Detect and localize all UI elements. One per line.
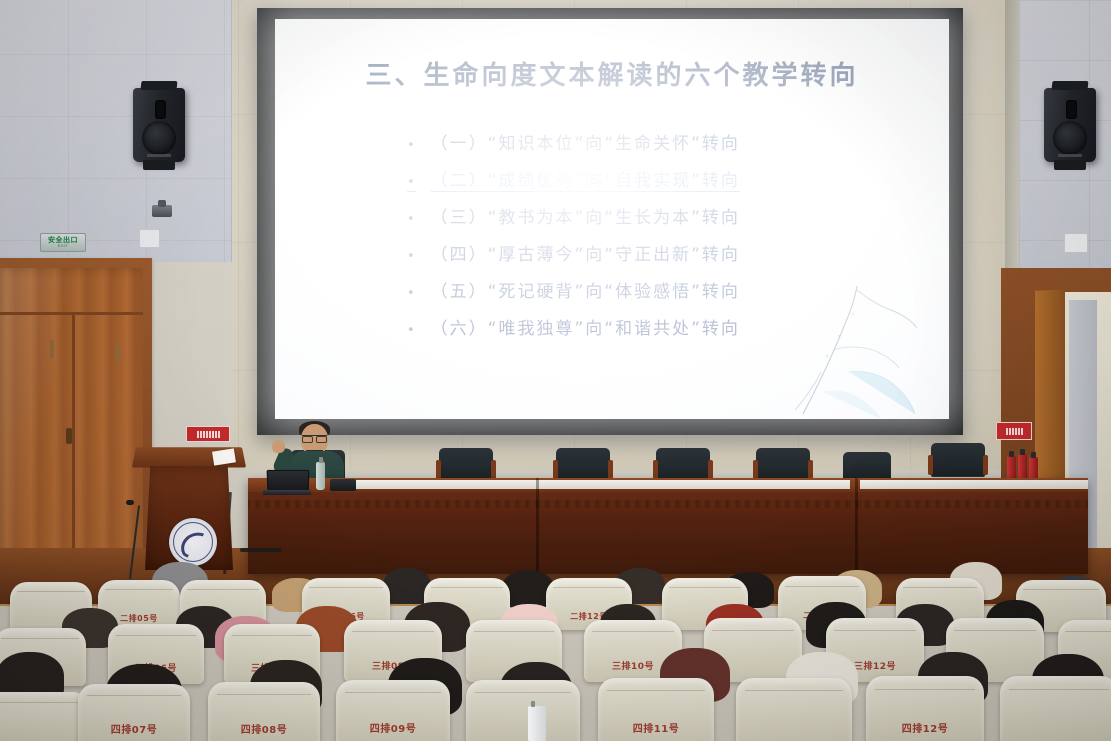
- podium-microphone-head: [126, 500, 134, 505]
- fire-equipment-sign-right: [996, 422, 1032, 440]
- chair-arm: [928, 455, 933, 475]
- slide-bullet-3: • （三）“教书为本”向“生长为本”转向: [407, 203, 909, 240]
- seat[interactable]: 四排09号: [336, 680, 450, 741]
- exit-sign: 安全出口 EXIT: [40, 233, 86, 252]
- speaker-foot: [143, 160, 175, 170]
- chair-arm: [553, 460, 558, 480]
- right-wall-trim: [1005, 0, 1019, 300]
- seat[interactable]: 四排11号: [598, 678, 714, 741]
- chair-arm: [753, 460, 758, 480]
- seat[interactable]: 四排12号: [866, 676, 984, 741]
- fire-equipment-sign-left: [186, 426, 230, 442]
- desk-phone[interactable]: [330, 479, 356, 491]
- chair-arm: [436, 460, 441, 480]
- speaker-bracket: [1052, 81, 1089, 90]
- bullet-icon: •: [407, 250, 417, 263]
- chair-arm: [653, 460, 658, 480]
- seat-crease: [1065, 631, 1111, 632]
- security-camera-icon: [152, 205, 172, 217]
- slide-bullet-1-text: （一）“知识本位”向“生命关怀”转向: [431, 129, 740, 154]
- speaker-right: [1044, 88, 1096, 162]
- speaker-cone: [1053, 121, 1087, 155]
- seat-crease: [352, 631, 434, 632]
- table-edge-highlight: [330, 480, 850, 489]
- speaker-foot: [1054, 160, 1086, 170]
- seat[interactable]: [736, 678, 852, 741]
- bullet-icon: •: [407, 139, 417, 152]
- slide-bullet-5-text: （五）“死记硬背”向“体验感悟”转向: [431, 277, 740, 302]
- audience-area: 二排05号 二排06号 二排12号 二排13号: [0, 556, 1111, 741]
- water-bottle: [316, 462, 325, 490]
- seat-crease: [669, 587, 741, 588]
- projection-screen-frame: 三、生命向度文本解读的六个教学转向 • （一）“知识本位”向“生命关怀”转向 •…: [257, 8, 963, 435]
- seat[interactable]: [466, 680, 580, 741]
- seat-crease: [105, 589, 174, 590]
- bullet-icon: •: [407, 287, 417, 300]
- lecture-hall-scene: 安全出口 EXIT: [0, 0, 1111, 741]
- seat-crease: [1, 638, 78, 639]
- laptop-base: [263, 490, 311, 495]
- seat-crease: [1023, 589, 1099, 590]
- fire-extinguisher: [1007, 456, 1016, 480]
- door-handle[interactable]: [66, 428, 72, 444]
- seat-crease: [345, 692, 441, 693]
- chair-arm: [808, 460, 813, 480]
- speaker-logo: [1058, 154, 1082, 157]
- fire-extinguisher-group: [1007, 452, 1041, 480]
- door-hinge: [50, 340, 54, 358]
- podium-body: [145, 466, 233, 570]
- bullet-icon: •: [407, 176, 417, 189]
- slide-bullet-2-text: （二）“成绩优秀”向“自我实现”转向: [431, 166, 740, 191]
- seat-crease: [785, 586, 859, 587]
- slide-bullet-3-text: （三）“教书为本”向“生长为本”转向: [431, 203, 740, 228]
- seat-crease: [607, 690, 704, 691]
- seat[interactable]: 四排07号: [78, 684, 190, 741]
- seat[interactable]: [1000, 676, 1111, 741]
- chair-arm: [983, 455, 988, 475]
- fire-extinguisher: [1029, 457, 1038, 480]
- seat-crease: [17, 591, 86, 592]
- speaker-port: [155, 100, 166, 119]
- seat-label: 四排07号: [78, 721, 190, 736]
- slide-bullet-6: • （六）“唯我独尊”向“和谐共处”转向: [407, 314, 909, 351]
- seat-crease: [745, 690, 842, 691]
- fire-extinguisher: [1018, 454, 1027, 480]
- chair-arm: [708, 460, 713, 480]
- seat-crease: [954, 630, 1036, 631]
- slide-bullet-list: • （一）“知识本位”向“生命关怀”转向 • （二）“成绩优秀”向“自我实现”转…: [407, 129, 909, 351]
- table-edge-highlight: [860, 480, 1088, 489]
- table-carving: [248, 500, 1088, 508]
- slide-bullet-5: • （五）“死记硬背”向“体验感悟”转向: [407, 277, 909, 314]
- speaker-port: [1066, 100, 1077, 119]
- slide-bullet-6-text: （六）“唯我独尊”向“和谐共处”转向: [431, 314, 740, 339]
- audience-water-bottle: [528, 706, 546, 741]
- cable-bundle: [240, 548, 282, 552]
- seat-label: 四排08号: [208, 721, 320, 736]
- chair-3: [556, 448, 610, 482]
- bullet-icon: •: [407, 213, 417, 226]
- seat-crease: [592, 631, 674, 632]
- presenter-hand: [272, 440, 285, 453]
- slide-bullet-2: • （二）“成绩优秀”向“自我实现”转向: [407, 166, 909, 203]
- left-wall-panel: [0, 0, 232, 262]
- seat-crease: [431, 587, 503, 588]
- left-double-door[interactable]: [0, 268, 143, 560]
- seat-crease: [1009, 689, 1108, 690]
- slide-bullet-4-text: （四）“厚古薄今”向“守正出新”转向: [431, 240, 740, 265]
- seat-crease: [217, 694, 311, 695]
- wall-junction-box: [139, 229, 160, 248]
- seat-crease: [187, 589, 259, 590]
- door-hinge: [116, 344, 120, 362]
- seat-crease: [712, 630, 794, 631]
- presenter-laptop[interactable]: [263, 470, 309, 496]
- seat-crease: [475, 692, 571, 693]
- podium: [139, 446, 239, 570]
- seat-crease: [232, 635, 313, 636]
- seat-label: 四排12号: [866, 720, 984, 735]
- speaker-cone: [142, 121, 176, 155]
- seat-crease: [903, 587, 977, 588]
- slide-title: 三、生命向度文本解读的六个教学转向: [275, 55, 949, 92]
- seat-crease: [474, 631, 555, 632]
- chair-5: [756, 448, 810, 482]
- chair-arm: [491, 460, 496, 480]
- chair-2: [439, 448, 493, 482]
- chair-4: [656, 448, 710, 482]
- speaker-logo: [147, 154, 171, 157]
- slide-bullet-4: • （四）“厚古薄今”向“守正出新”转向: [407, 240, 909, 277]
- projection-screen: 三、生命向度文本解读的六个教学转向 • （一）“知识本位”向“生命关怀”转向 •…: [275, 19, 949, 419]
- chair-7: [931, 443, 985, 477]
- seat-crease: [116, 635, 197, 636]
- seat-crease: [834, 630, 916, 631]
- speaker-bracket: [141, 81, 178, 90]
- chair-arm: [608, 460, 613, 480]
- door-transom: [0, 268, 143, 315]
- wall-junction-box: [1064, 233, 1088, 253]
- exit-sign-english: EXIT: [58, 244, 69, 248]
- sign-glyphs: [197, 431, 220, 438]
- seat-label: 四排11号: [598, 720, 714, 735]
- sign-glyphs: [1006, 428, 1023, 435]
- door-seam: [72, 312, 75, 560]
- seat-crease: [309, 587, 383, 588]
- seat-crease: [87, 695, 181, 696]
- slide-bullet-1: • （一）“知识本位”向“生命关怀”转向: [407, 129, 909, 166]
- seat-crease: [875, 689, 974, 690]
- seat-crease: [553, 587, 625, 588]
- bullet-icon: •: [407, 324, 417, 337]
- seat[interactable]: [0, 692, 90, 741]
- speaker-left: [133, 88, 185, 162]
- seat-label: 四排09号: [336, 720, 450, 735]
- seat-crease: [0, 702, 81, 703]
- glasses-icon: [302, 435, 327, 441]
- seat[interactable]: 四排08号: [208, 682, 320, 741]
